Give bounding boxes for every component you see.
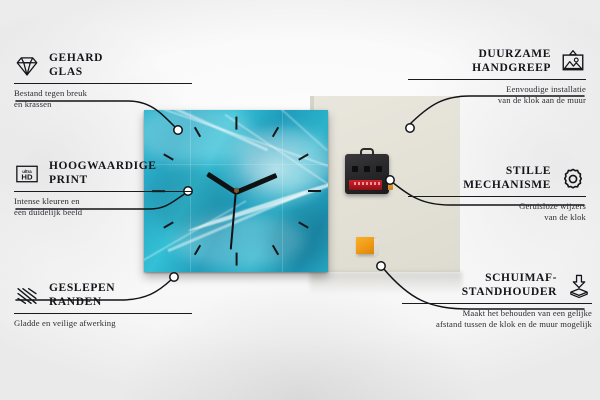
feature-subtitle-line1: Bestand tegen breuk <box>14 88 192 99</box>
feature-divider <box>402 303 592 304</box>
clock-hour-mark <box>298 153 309 160</box>
feather-streak <box>144 110 268 151</box>
mechanism-slot <box>364 166 370 172</box>
feather-glow <box>174 214 304 268</box>
gear-icon <box>560 166 586 192</box>
feather-glow <box>240 128 328 192</box>
bevelled-edges-icon <box>14 283 40 309</box>
battery-positive-cap <box>388 180 393 190</box>
feature-subtitle-line1: Geruisloze wijzers <box>408 201 586 212</box>
clock-hour-mark <box>193 127 200 138</box>
feature-divider <box>14 83 192 84</box>
feature-title-line1: GEHARD <box>49 52 103 66</box>
feature-divider <box>14 191 192 192</box>
battery-label <box>354 182 382 185</box>
minute-hand <box>235 173 277 195</box>
feature-gehard-glas: GEHARD GLAS Bestand tegen breuk en krass… <box>14 52 192 110</box>
svg-text:HD: HD <box>21 172 33 181</box>
clock-center-pin <box>234 188 239 193</box>
feature-geslepen-randen: GESLEPEN RANDEN Gladde en veilige afwerk… <box>14 282 192 329</box>
feature-stille-mechanisme: STILLE MECHANISME Geruisloze wijzers van… <box>408 165 586 223</box>
foam-spacer-icon <box>566 273 592 299</box>
foam-spacer-side <box>374 239 379 256</box>
clock-hour-mark <box>235 252 237 265</box>
clock-hour-mark <box>271 127 278 138</box>
feature-subtitle-line1: Intense kleuren en <box>14 196 192 207</box>
feature-title-line2: STANDHOUDER <box>462 286 557 300</box>
feature-subtitle-line2: van de klok aan de muur <box>408 95 586 106</box>
feature-divider <box>408 196 586 197</box>
feature-subtitle-line1: Eenvoudige installatie <box>408 84 586 95</box>
feather-streak <box>225 114 328 188</box>
feature-schuimafstandhouder: SCHUIMAF- STANDHOUDER Maakt het behouden… <box>402 272 592 330</box>
clock-hour-mark <box>308 190 321 192</box>
feather-glow <box>144 110 254 164</box>
feature-title-line1: HOOGWAARDIGE <box>49 160 157 174</box>
clock-mechanism <box>345 154 389 194</box>
diamond-icon <box>14 53 40 79</box>
feature-divider <box>408 79 586 80</box>
feature-title-line2: PRINT <box>49 174 157 188</box>
foam-spacer <box>356 237 374 254</box>
feature-title-line1: SCHUIMAF- <box>462 272 557 286</box>
mechanism-slot <box>352 166 358 172</box>
feature-subtitle-line2: en krassen <box>14 99 192 110</box>
feature-subtitle-line2: een duidelijk beeld <box>14 207 192 218</box>
feature-title-line2: GLAS <box>49 66 103 80</box>
feature-divider <box>14 313 192 314</box>
feature-duurzame-handgreep: DUURZAME HANDGREEP Eenvoudige installati… <box>408 48 586 106</box>
clock-hour-mark <box>163 221 174 228</box>
feature-subtitle-line2: van de klok <box>408 212 586 223</box>
feature-subtitle-line2: afstand tussen de klok en de muur mogeli… <box>402 319 592 330</box>
feather-streak <box>252 110 328 151</box>
feature-title-line1: GESLEPEN <box>49 282 115 296</box>
feature-title-line2: MECHANISME <box>463 179 551 193</box>
aa-battery <box>349 180 382 190</box>
clock-hour-mark <box>298 221 309 228</box>
clock-hour-mark <box>235 116 237 129</box>
clock-hour-mark <box>193 245 200 256</box>
ultra-hd-icon: ultra HD <box>14 161 40 187</box>
feather-shadow <box>264 202 328 266</box>
feature-subtitle-line1: Gladde en veilige afwerking <box>14 318 192 329</box>
mechanism-slot <box>376 166 382 172</box>
feature-subtitle-line1: Maakt het behouden van een gelijke <box>402 308 592 319</box>
feature-title-line1: DUURZAME <box>472 48 551 62</box>
feather-streak <box>187 176 328 233</box>
picture-frame-icon <box>560 49 586 75</box>
feature-hoogwaardige-print: ultra HD HOOGWAARDIGE PRINT Intense kleu… <box>14 160 192 218</box>
clock-hour-mark <box>271 245 278 256</box>
mechanism-hanger <box>360 148 374 156</box>
hour-hand <box>206 172 237 195</box>
feather-streak <box>159 110 328 167</box>
second-hand <box>230 192 237 250</box>
feature-title-line2: RANDEN <box>49 296 115 310</box>
infographic-root: GEHARD GLAS Bestand tegen breuk en krass… <box>0 0 600 400</box>
feature-title-line1: STILLE <box>463 165 551 179</box>
feature-title-line2: HANDGREEP <box>472 62 551 76</box>
